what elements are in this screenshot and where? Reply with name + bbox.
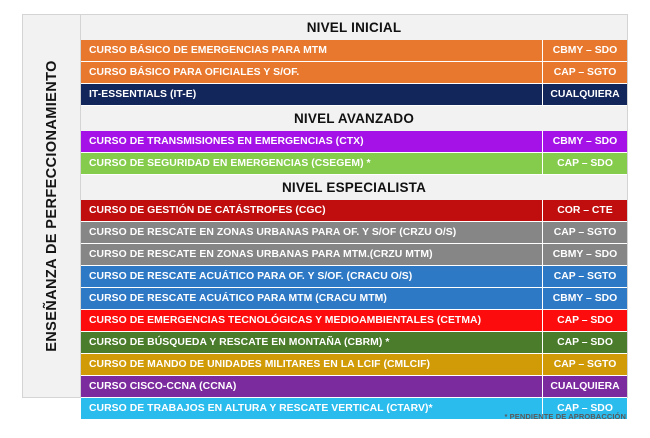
- course-levels-chart: ENSEÑANZA DE PERFECCIONAMIENTO NIVEL INI…: [0, 0, 650, 438]
- course-name: CURSO DE TRABAJOS EN ALTURA Y RESCATE VE…: [81, 398, 542, 419]
- course-name: CURSO DE RESCATE ACUÁTICO PARA OF. Y S/O…: [81, 266, 542, 287]
- course-row[interactable]: CURSO DE RESCATE EN ZONAS URBANAS PARA M…: [81, 244, 627, 266]
- course-name: CURSO DE GESTIÓN DE CATÁSTROFES (CGC): [81, 200, 542, 221]
- rank-range: CBMY – SDO: [542, 131, 627, 152]
- course-name: CURSO DE EMERGENCIAS TECNOLÓGICAS Y MEDI…: [81, 310, 542, 331]
- course-name: CURSO DE TRANSMISIONES EN EMERGENCIAS (C…: [81, 131, 542, 152]
- vertical-category-banner: ENSEÑANZA DE PERFECCIONAMIENTO: [23, 15, 81, 397]
- course-row[interactable]: CURSO BÁSICO PARA OFICIALES Y S/OF.CAP –…: [81, 62, 627, 84]
- section-header: NIVEL ESPECIALISTA: [81, 175, 627, 200]
- rank-range: CUALQUIERA: [542, 84, 627, 105]
- footnote-pending-approval: * PENDIENTE DE APROBACCIÓN: [504, 412, 626, 421]
- course-row[interactable]: CURSO DE RESCATE ACUÁTICO PARA OF. Y S/O…: [81, 266, 627, 288]
- course-name: CURSO DE BÚSQUEDA Y RESCATE EN MONTAÑA (…: [81, 332, 542, 353]
- course-row[interactable]: CURSO DE RESCATE EN ZONAS URBANAS PARA O…: [81, 222, 627, 244]
- rank-range: CAP – SDO: [542, 153, 627, 174]
- course-name: CURSO DE MANDO DE UNIDADES MILITARES EN …: [81, 354, 542, 375]
- course-row[interactable]: CURSO DE SEGURIDAD EN EMERGENCIAS (CSEGE…: [81, 153, 627, 175]
- course-row[interactable]: CURSO DE BÚSQUEDA Y RESCATE EN MONTAÑA (…: [81, 332, 627, 354]
- course-row[interactable]: CURSO CISCO-CCNA (CCNA)CUALQUIERA: [81, 376, 627, 398]
- rank-range: CBMY – SDO: [542, 288, 627, 309]
- rank-range: CBMY – SDO: [542, 40, 627, 61]
- course-name: IT-ESSENTIALS (IT-E): [81, 84, 542, 105]
- course-name: CURSO DE SEGURIDAD EN EMERGENCIAS (CSEGE…: [81, 153, 542, 174]
- course-name: CURSO CISCO-CCNA (CCNA): [81, 376, 542, 397]
- course-row[interactable]: CURSO DE RESCATE ACUÁTICO PARA MTM (CRAC…: [81, 288, 627, 310]
- course-name: CURSO DE RESCATE EN ZONAS URBANAS PARA O…: [81, 222, 542, 243]
- rank-range: COR – CTE: [542, 200, 627, 221]
- rank-range: CAP – SDO: [542, 310, 627, 331]
- section-header: NIVEL INICIAL: [81, 15, 627, 40]
- course-name: CURSO BÁSICO PARA OFICIALES Y S/OF.: [81, 62, 542, 83]
- rank-range: CUALQUIERA: [542, 376, 627, 397]
- rank-range: CAP – SDO: [542, 332, 627, 353]
- course-row[interactable]: CURSO DE TRANSMISIONES EN EMERGENCIAS (C…: [81, 131, 627, 153]
- course-name: CURSO BÁSICO DE EMERGENCIAS PARA MTM: [81, 40, 542, 61]
- course-row[interactable]: CURSO BÁSICO DE EMERGENCIAS PARA MTMCBMY…: [81, 40, 627, 62]
- course-name: CURSO DE RESCATE EN ZONAS URBANAS PARA M…: [81, 244, 542, 265]
- course-name: CURSO DE RESCATE ACUÁTICO PARA MTM (CRAC…: [81, 288, 542, 309]
- section-header: NIVEL AVANZADO: [81, 106, 627, 131]
- course-row[interactable]: CURSO DE EMERGENCIAS TECNOLÓGICAS Y MEDI…: [81, 310, 627, 332]
- rank-range: CAP – SGTO: [542, 354, 627, 375]
- course-row[interactable]: CURSO DE GESTIÓN DE CATÁSTROFES (CGC)COR…: [81, 200, 627, 222]
- table-frame: ENSEÑANZA DE PERFECCIONAMIENTO NIVEL INI…: [22, 14, 628, 398]
- course-row[interactable]: CURSO DE MANDO DE UNIDADES MILITARES EN …: [81, 354, 627, 376]
- rank-range: CBMY – SDO: [542, 244, 627, 265]
- rank-range: CAP – SGTO: [542, 266, 627, 287]
- course-row[interactable]: IT-ESSENTIALS (IT-E)CUALQUIERA: [81, 84, 627, 106]
- vertical-category-label: ENSEÑANZA DE PERFECCIONAMIENTO: [44, 60, 60, 352]
- rank-range: CAP – SGTO: [542, 62, 627, 83]
- rank-range: CAP – SGTO: [542, 222, 627, 243]
- levels-table: NIVEL INICIALCURSO BÁSICO DE EMERGENCIAS…: [81, 15, 627, 397]
